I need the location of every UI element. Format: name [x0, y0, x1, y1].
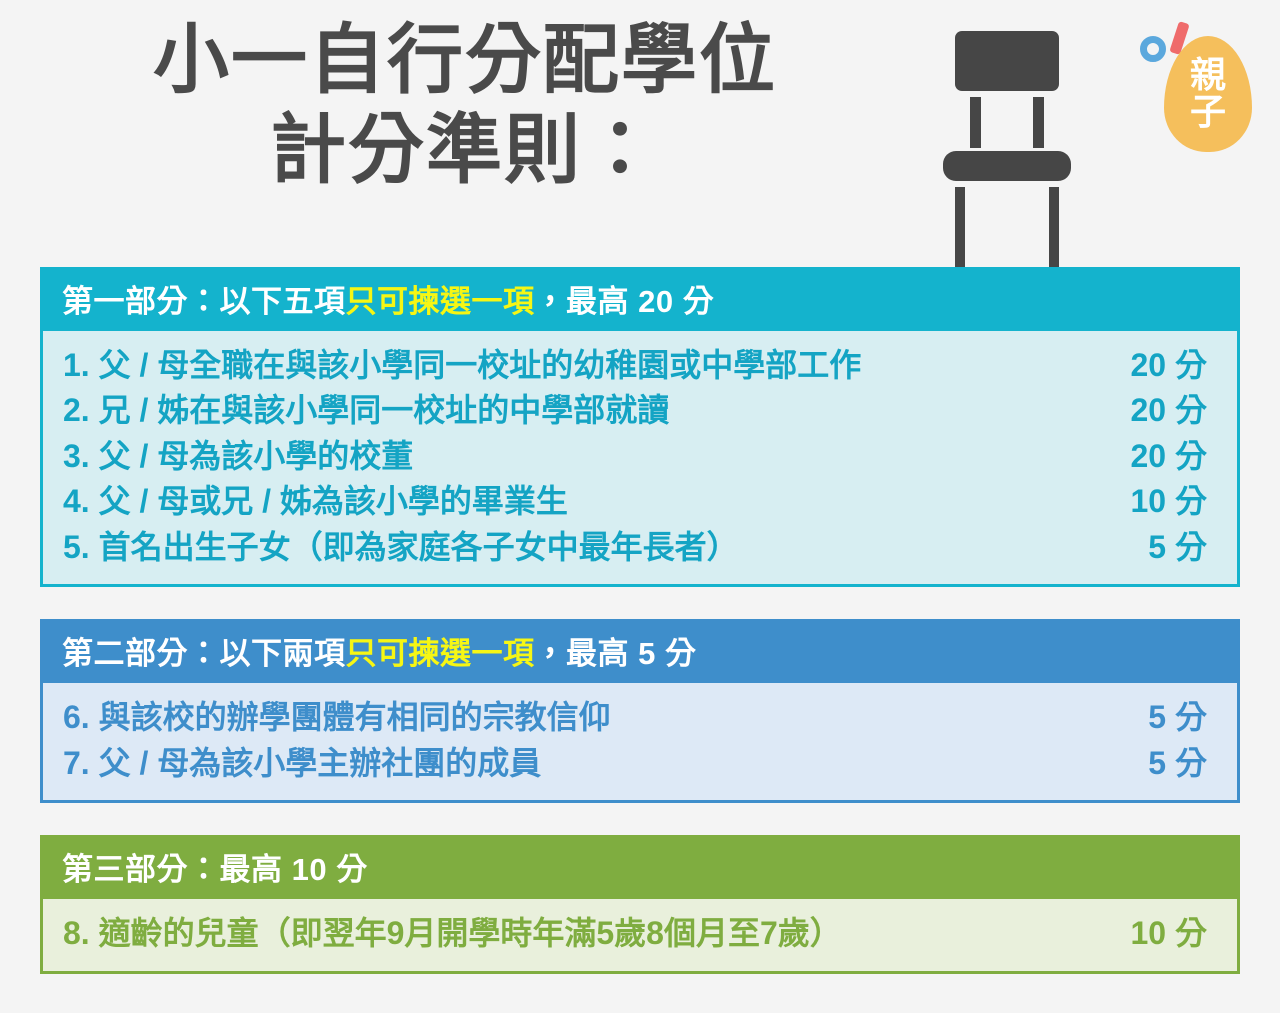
page-header: 小一自行分配學位 計分準則： 親 子: [0, 0, 1280, 262]
section-part-two: 第二部分：以下兩項只可揀選一項，最高 5 分 6. 與該校的辦學團體有相同的宗教…: [40, 619, 1240, 803]
section-part-one: 第一部分：以下五項只可揀選一項，最高 20 分 1. 父 / 母全職在與該小學同…: [40, 267, 1240, 587]
chair-icon: [925, 25, 1085, 275]
logo-ring-icon: [1140, 36, 1166, 62]
row-label: 5. 首名出生子女（即為家庭各子女中最年長者）: [63, 525, 739, 570]
title-line-1: 小一自行分配學位: [0, 18, 930, 104]
scoring-row: 2. 兄 / 姊在與該小學同一校址的中學部就讀 20 分: [63, 388, 1217, 433]
row-score: 5 分: [1089, 741, 1217, 786]
scoring-sections: 第一部分：以下五項只可揀選一項，最高 20 分 1. 父 / 母全職在與該小學同…: [40, 267, 1240, 1006]
row-label: 1. 父 / 母全職在與該小學同一校址的幼稚園或中學部工作: [63, 343, 861, 388]
scoring-row: 1. 父 / 母全職在與該小學同一校址的幼稚園或中學部工作 20 分: [63, 343, 1217, 388]
section-header-highlight: 只可揀選一項: [346, 636, 535, 671]
logo-label-line-2: 子: [1190, 94, 1226, 131]
section-header-part-three: 第三部分：最高 10 分: [40, 835, 1240, 899]
page-title: 小一自行分配學位 計分準則：: [0, 18, 930, 194]
section-header-part-two: 第二部分：以下兩項只可揀選一項，最高 5 分: [40, 619, 1240, 683]
row-label: 8. 適齡的兒童（即翌年9月開學時年滿5歲8個月至7歲）: [63, 911, 842, 956]
row-label: 4. 父 / 母或兄 / 姊為該小學的畢業生: [63, 479, 568, 524]
section-header-suffix: ，最高 20 分: [535, 284, 715, 319]
section-header-prefix: 第三部分：最高 10 分: [62, 852, 368, 887]
section-header-suffix: ，最高 5 分: [535, 636, 697, 671]
row-label: 7. 父 / 母為該小學主辦社團的成員: [63, 741, 541, 786]
row-score: 20 分: [1089, 343, 1217, 388]
logo-label-line-1: 親: [1190, 57, 1226, 94]
section-header-part-one: 第一部分：以下五項只可揀選一項，最高 20 分: [40, 267, 1240, 331]
row-label: 3. 父 / 母為該小學的校董: [63, 434, 413, 479]
section-body-part-two: 6. 與該校的辦學團體有相同的宗教信仰 5 分 7. 父 / 母為該小學主辦社團…: [40, 683, 1240, 803]
row-score: 20 分: [1089, 434, 1217, 479]
row-label: 6. 與該校的辦學團體有相同的宗教信仰: [63, 695, 611, 740]
row-label: 2. 兄 / 姊在與該小學同一校址的中學部就讀: [63, 388, 669, 433]
brand-logo: 親 子: [1138, 14, 1254, 160]
title-line-2: 計分準則：: [0, 108, 930, 194]
section-body-part-one: 1. 父 / 母全職在與該小學同一校址的幼稚園或中學部工作 20 分 2. 兄 …: [40, 331, 1240, 587]
section-header-prefix: 第二部分：以下兩項: [62, 636, 346, 671]
scoring-row: 7. 父 / 母為該小學主辦社團的成員 5 分: [63, 741, 1217, 786]
scoring-row: 3. 父 / 母為該小學的校董 20 分: [63, 434, 1217, 479]
row-score: 10 分: [1089, 479, 1217, 524]
section-part-three: 第三部分：最高 10 分 8. 適齡的兒童（即翌年9月開學時年滿5歲8個月至7歲…: [40, 835, 1240, 973]
row-score: 20 分: [1089, 388, 1217, 433]
row-score: 10 分: [1077, 911, 1217, 956]
logo-label: 親 子: [1164, 36, 1252, 152]
section-header-prefix: 第一部分：以下五項: [62, 284, 346, 319]
section-header-highlight: 只可揀選一項: [346, 284, 535, 319]
row-score: 5 分: [1089, 695, 1217, 740]
scoring-row: 5. 首名出生子女（即為家庭各子女中最年長者） 5 分: [63, 525, 1217, 570]
row-score: 5 分: [1089, 525, 1217, 570]
scoring-row: 4. 父 / 母或兄 / 姊為該小學的畢業生 10 分: [63, 479, 1217, 524]
scoring-row: 8. 適齡的兒童（即翌年9月開學時年滿5歲8個月至7歲） 10 分: [63, 911, 1217, 956]
section-body-part-three: 8. 適齡的兒童（即翌年9月開學時年滿5歲8個月至7歲） 10 分: [40, 899, 1240, 973]
scoring-row: 6. 與該校的辦學團體有相同的宗教信仰 5 分: [63, 695, 1217, 740]
